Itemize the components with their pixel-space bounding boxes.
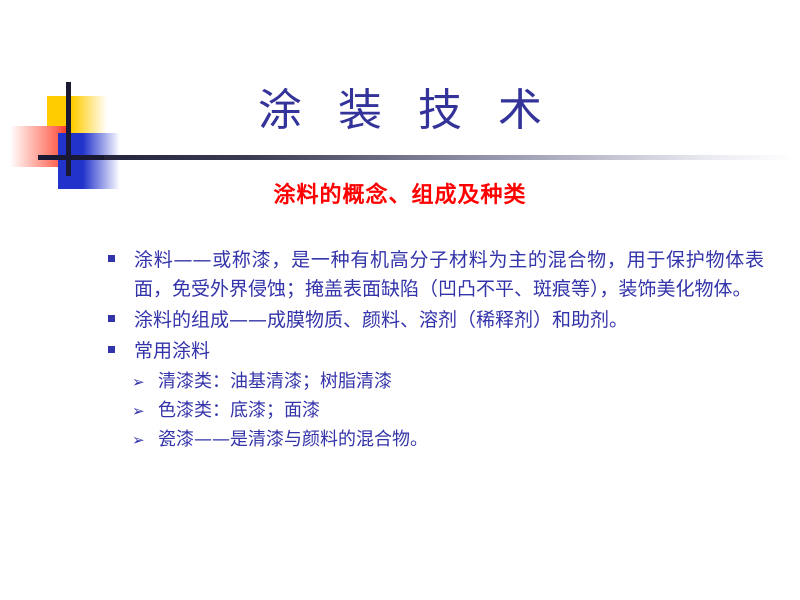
square-bullet-icon (104, 306, 134, 322)
list-item: 常用涂料 (104, 337, 764, 366)
sub-list-item: ➢ 色漆类：底漆；面漆 (132, 397, 764, 425)
list-item-label: 涂料——或称漆，是一种有机高分子材料为主的混合物，用于保护物体表面，免受外界侵蚀… (134, 246, 764, 304)
sub-list: ➢ 清漆类：油基清漆；树脂清漆 ➢ 色漆类：底漆；面漆 ➢ 瓷漆——是清漆与颜料… (104, 368, 764, 454)
sub-list-item-label: 色漆类：底漆；面漆 (158, 397, 764, 425)
sub-list-item: ➢ 清漆类：油基清漆；树脂清漆 (132, 368, 764, 396)
sub-list-item-label: 瓷漆——是清漆与颜料的混合物。 (158, 426, 764, 454)
list-item: 涂料——或称漆，是一种有机高分子材料为主的混合物，用于保护物体表面，免受外界侵蚀… (104, 246, 764, 304)
arrow-bullet-icon: ➢ (132, 397, 158, 425)
arrow-bullet-icon: ➢ (132, 368, 158, 396)
presentation-slide: 涂 装 技 术 涂料的概念、组成及种类 涂料——或称漆，是一种有机高分子材料为主… (0, 0, 800, 600)
list-item-label: 涂料的组成——成膜物质、颜料、溶剂（稀释剂）和助剂。 (134, 306, 764, 335)
arrow-bullet-icon: ➢ (132, 426, 158, 454)
title-divider-rule (38, 155, 793, 160)
square-bullet-icon (104, 337, 134, 353)
square-bullet-icon (104, 246, 134, 262)
logo-horizontal-bar-icon (38, 155, 104, 160)
slide-body: 涂料——或称漆，是一种有机高分子材料为主的混合物，用于保护物体表面，免受外界侵蚀… (104, 246, 764, 455)
sub-list-item-label: 清漆类：油基清漆；树脂清漆 (158, 368, 764, 396)
list-item: 涂料的组成——成膜物质、颜料、溶剂（稀释剂）和助剂。 (104, 306, 764, 335)
page-subtitle: 涂料的概念、组成及种类 (0, 181, 800, 211)
page-title: 涂 装 技 术 (0, 84, 800, 138)
sub-list-item: ➢ 瓷漆——是清漆与颜料的混合物。 (132, 426, 764, 454)
list-item-label: 常用涂料 (134, 337, 764, 366)
